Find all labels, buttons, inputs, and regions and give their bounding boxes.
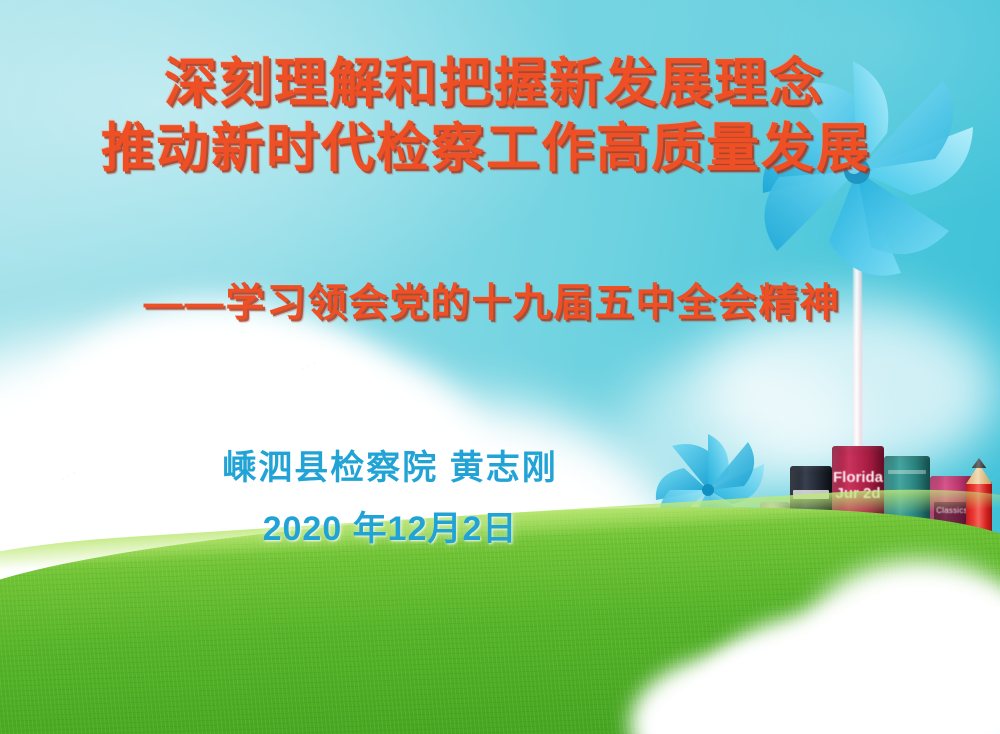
cloud-left-b: [40, 300, 400, 550]
watermark: · · ·: [58, 467, 79, 486]
pinwheel-large-stick: [853, 255, 862, 505]
pinwheel-large: [735, 55, 985, 285]
presentation-slide: PracticeLaw Legal Practice Review Practi…: [0, 0, 1000, 734]
spine-band: [888, 470, 927, 474]
watermark: · · ·: [298, 357, 319, 376]
grass-hill: [0, 481, 1000, 734]
pinwheel-large-blades: [735, 55, 985, 285]
pencil-lead: [972, 458, 987, 468]
pencil-wood-tip: [966, 464, 992, 484]
